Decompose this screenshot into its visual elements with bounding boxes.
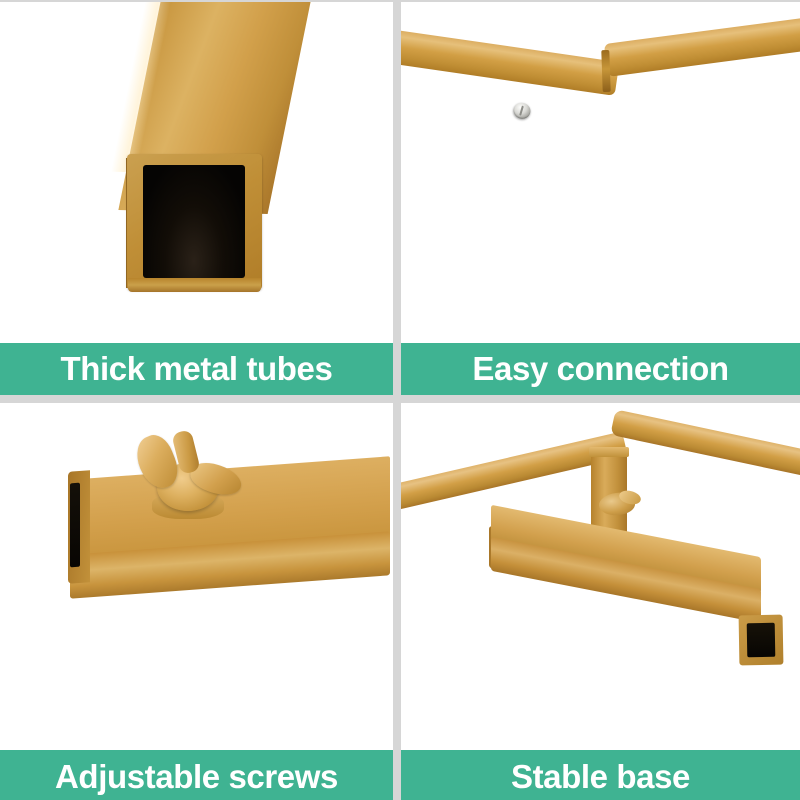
caption-banner-thick-metal-tubes: Thick metal tubes (0, 343, 393, 395)
tube-segment-right (604, 17, 800, 77)
caption-banner-adjustable-screws: Adjustable screws (0, 750, 393, 800)
caption-banner-stable-base: Stable base (401, 750, 800, 800)
caption-banner-easy-connection: Easy connection (401, 343, 800, 395)
screw-icon (512, 101, 533, 121)
tube-end-face (127, 154, 262, 290)
tube-joint-seam (601, 50, 610, 92)
feature-grid: Thick metal tubes Easy connection (0, 0, 800, 800)
tube-joint-illustration (401, 2, 800, 345)
photo-square-tube-cross-section (0, 2, 393, 395)
arch-tube-right (610, 409, 800, 478)
photo-tube-joint-with-screw (401, 2, 800, 395)
photo-t-shaped-base (401, 403, 800, 800)
caption-text: Stable base (511, 760, 690, 793)
panel-stable-base[interactable]: Stable base (401, 403, 800, 800)
square-tube-illustration (0, 2, 393, 345)
stable-base-illustration (401, 403, 800, 750)
wing-nut-illustration (0, 403, 393, 750)
caption-text: Adjustable screws (55, 760, 338, 793)
tube-hollow-interior (143, 165, 245, 278)
caption-text: Easy connection (472, 352, 728, 385)
tube-segment-left (401, 29, 619, 95)
photo-wing-nut-on-bar (0, 403, 393, 800)
foot-hollow-interior (747, 623, 776, 657)
tube-bottom-edge (128, 278, 261, 292)
panel-thick-metal-tubes[interactable]: Thick metal tubes (0, 2, 393, 395)
post-top-bracket (589, 447, 629, 457)
panel-easy-connection[interactable]: Easy connection (401, 2, 800, 395)
caption-text: Thick metal tubes (61, 352, 333, 385)
panel-adjustable-screws[interactable]: Adjustable screws (0, 403, 393, 800)
bar-hollow-interior (70, 483, 80, 568)
foot-right-end (739, 615, 784, 666)
